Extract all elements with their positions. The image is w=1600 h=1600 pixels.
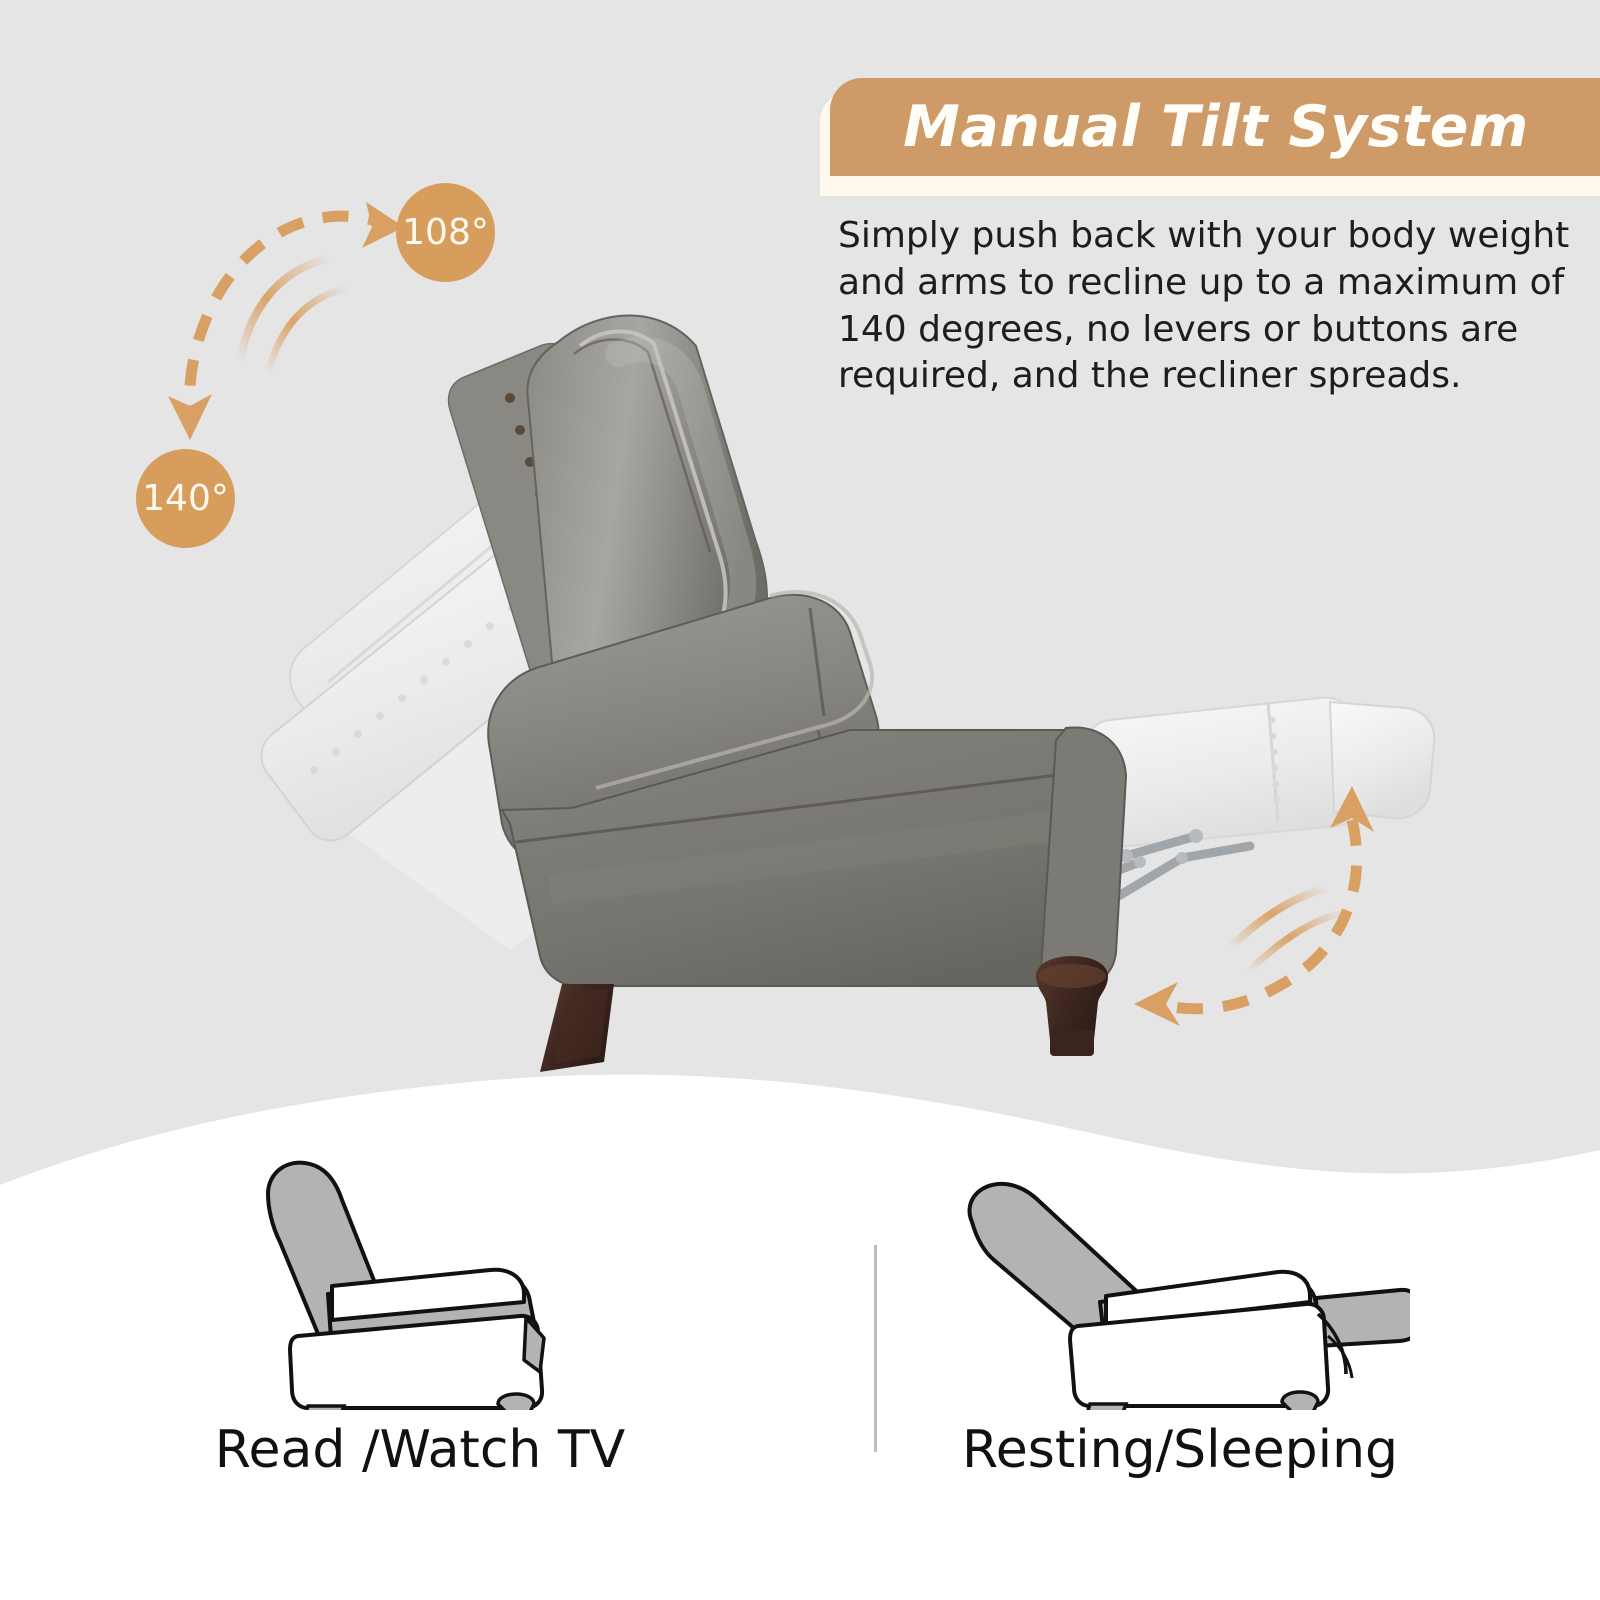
infographic-canvas: Manual Tilt System Simply push back with… xyxy=(0,0,1600,1600)
usage-modes-section: Read /Watch TV xyxy=(0,1140,1600,1600)
description-line-4: required, and the recliner spreads. xyxy=(838,353,1568,400)
reclined-angle-value: 140° xyxy=(142,478,229,519)
upright-angle-value: 108° xyxy=(402,212,489,253)
description-text: Simply push back with your body weight a… xyxy=(838,213,1568,400)
description-line-2: and arms to recline up to a maximum of xyxy=(838,260,1568,307)
upright-chair-icon xyxy=(40,1150,800,1410)
page-title: Manual Tilt System xyxy=(903,94,1529,160)
description-line-1: Simply push back with your body weight xyxy=(838,213,1568,260)
header-banner: Manual Tilt System xyxy=(820,78,1600,196)
mode-reclined: Resting/Sleeping xyxy=(800,1140,1560,1600)
mode-reclined-label: Resting/Sleeping xyxy=(800,1420,1560,1480)
reclined-chair-icon xyxy=(800,1150,1560,1410)
section-divider xyxy=(874,1245,877,1452)
upright-angle-badge: 108° xyxy=(396,183,495,282)
description-line-3: 140 degrees, no levers or buttons are xyxy=(838,307,1568,354)
mode-upright-label: Read /Watch TV xyxy=(40,1420,800,1480)
recliner-upright xyxy=(449,315,1127,1072)
banner-fill: Manual Tilt System xyxy=(830,78,1600,176)
mode-upright: Read /Watch TV xyxy=(40,1140,800,1600)
reclined-angle-badge: 140° xyxy=(136,449,235,548)
